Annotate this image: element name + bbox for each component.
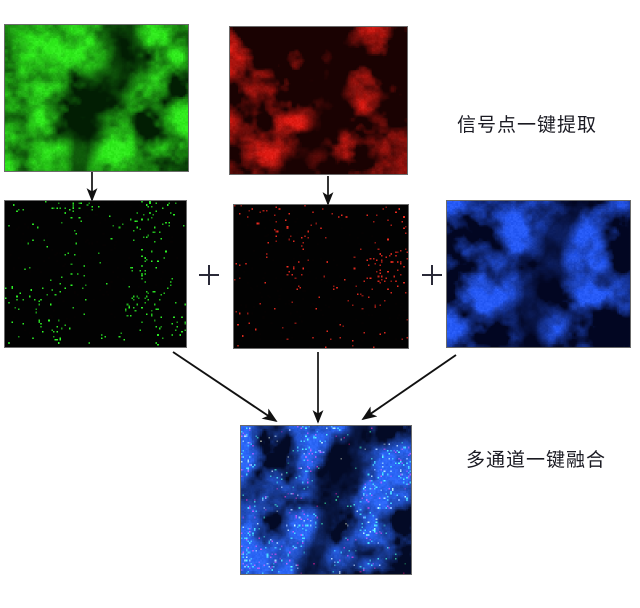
- signal-extraction-label: 信号点一键提取: [457, 110, 597, 137]
- arrow-green-to-merged: [173, 352, 276, 421]
- red-channel-raw: [230, 27, 407, 174]
- green-channel-extracted-signal-points: [5, 201, 186, 347]
- red-channel-extracted-signal-points: [234, 205, 408, 348]
- plus-green-red-icon: [199, 265, 219, 285]
- plus-red-blue-icon: [422, 265, 442, 285]
- green-channel-raw: [5, 25, 188, 171]
- blue-channel-nuclei: [447, 201, 630, 347]
- figure-canvas: 信号点一键提取多通道一键融合: [0, 0, 640, 608]
- merged-multichannel-result: [241, 426, 411, 574]
- multichannel-merge-label: 多通道一键融合: [466, 445, 606, 472]
- arrow-blue-to-merged: [363, 355, 456, 419]
